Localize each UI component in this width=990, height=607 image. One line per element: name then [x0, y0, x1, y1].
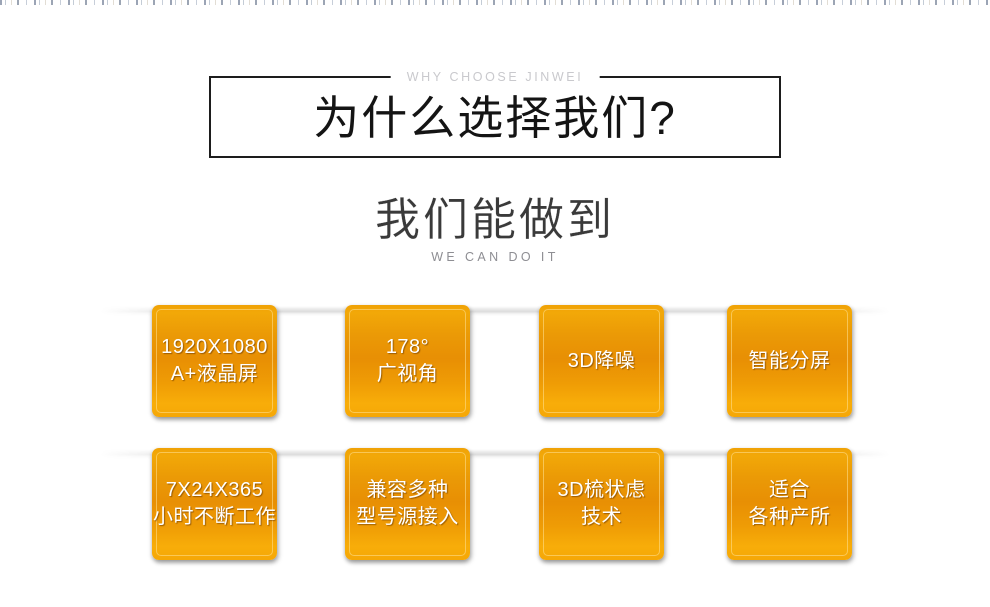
- sliver-texture: [0, 0, 990, 5]
- feature-card-line2: 广视角: [377, 361, 439, 388]
- feature-card-line2: 技术: [557, 504, 645, 531]
- feature-card-line1: 智能分屏: [749, 350, 831, 372]
- feature-card-line1: 适合: [769, 479, 810, 501]
- feature-card-line2: 型号源接入: [356, 504, 459, 531]
- feature-card-text: 智能分屏: [749, 348, 831, 375]
- feature-card-line2: A+液晶屏: [161, 361, 268, 388]
- feature-card-line1: 7X24X365: [166, 479, 263, 501]
- feature-card[interactable]: 兼容多种 型号源接入: [345, 448, 470, 560]
- section-subheading: 我们能做到 WE CAN DO IT: [0, 192, 990, 264]
- feature-card-line2: 各种产所: [749, 504, 831, 531]
- page-title: 为什么选择我们?: [211, 88, 779, 148]
- feature-card[interactable]: 智能分屏: [727, 305, 852, 417]
- feature-card-group-1: 1920X1080 A+液晶屏 178° 广视角 3D降噪 智能分屏: [152, 305, 862, 425]
- feature-card[interactable]: 3D降噪: [539, 305, 664, 417]
- section-heading: WHY CHOOSE JINWEI 为什么选择我们?: [0, 76, 990, 158]
- feature-row-1: 1920X1080 A+液晶屏 178° 广视角 3D降噪 智能分屏: [0, 297, 990, 427]
- feature-card-text: 7X24X365 小时不断工作: [153, 477, 276, 531]
- feature-card-group-2: 7X24X365 小时不断工作 兼容多种 型号源接入 3D梳状虑 技术 适合 各…: [152, 448, 862, 568]
- feature-card-text: 3D梳状虑 技术: [557, 477, 645, 531]
- feature-card[interactable]: 3D梳状虑 技术: [539, 448, 664, 560]
- feature-card[interactable]: 适合 各种产所: [727, 448, 852, 560]
- heading-eyebrow: WHY CHOOSE JINWEI: [391, 69, 600, 85]
- feature-card-text: 适合 各种产所: [749, 477, 831, 531]
- feature-card[interactable]: 7X24X365 小时不断工作: [152, 448, 277, 560]
- feature-card-line1: 3D降噪: [568, 350, 636, 372]
- feature-card-line1: 3D梳状虑: [557, 479, 645, 501]
- feature-card-text: 兼容多种 型号源接入: [356, 477, 459, 531]
- feature-row-2: 7X24X365 小时不断工作 兼容多种 型号源接入 3D梳状虑 技术 适合 各…: [0, 440, 990, 570]
- previous-section-sliver: [0, 0, 990, 5]
- feature-card[interactable]: 178° 广视角: [345, 305, 470, 417]
- feature-card-line1: 兼容多种: [367, 479, 449, 501]
- feature-card[interactable]: 1920X1080 A+液晶屏: [152, 305, 277, 417]
- feature-card-line1: 178°: [386, 336, 429, 358]
- title-box: WHY CHOOSE JINWEI 为什么选择我们?: [209, 76, 781, 158]
- feature-card-line2: 小时不断工作: [153, 504, 276, 531]
- feature-card-text: 1920X1080 A+液晶屏: [161, 334, 268, 388]
- feature-card-line1: 1920X1080: [161, 336, 268, 358]
- feature-card-text: 3D降噪: [568, 348, 636, 375]
- feature-card-text: 178° 广视角: [377, 334, 439, 388]
- subheading-title-cn: 我们能做到: [0, 192, 990, 248]
- subheading-title-en: WE CAN DO IT: [0, 250, 990, 264]
